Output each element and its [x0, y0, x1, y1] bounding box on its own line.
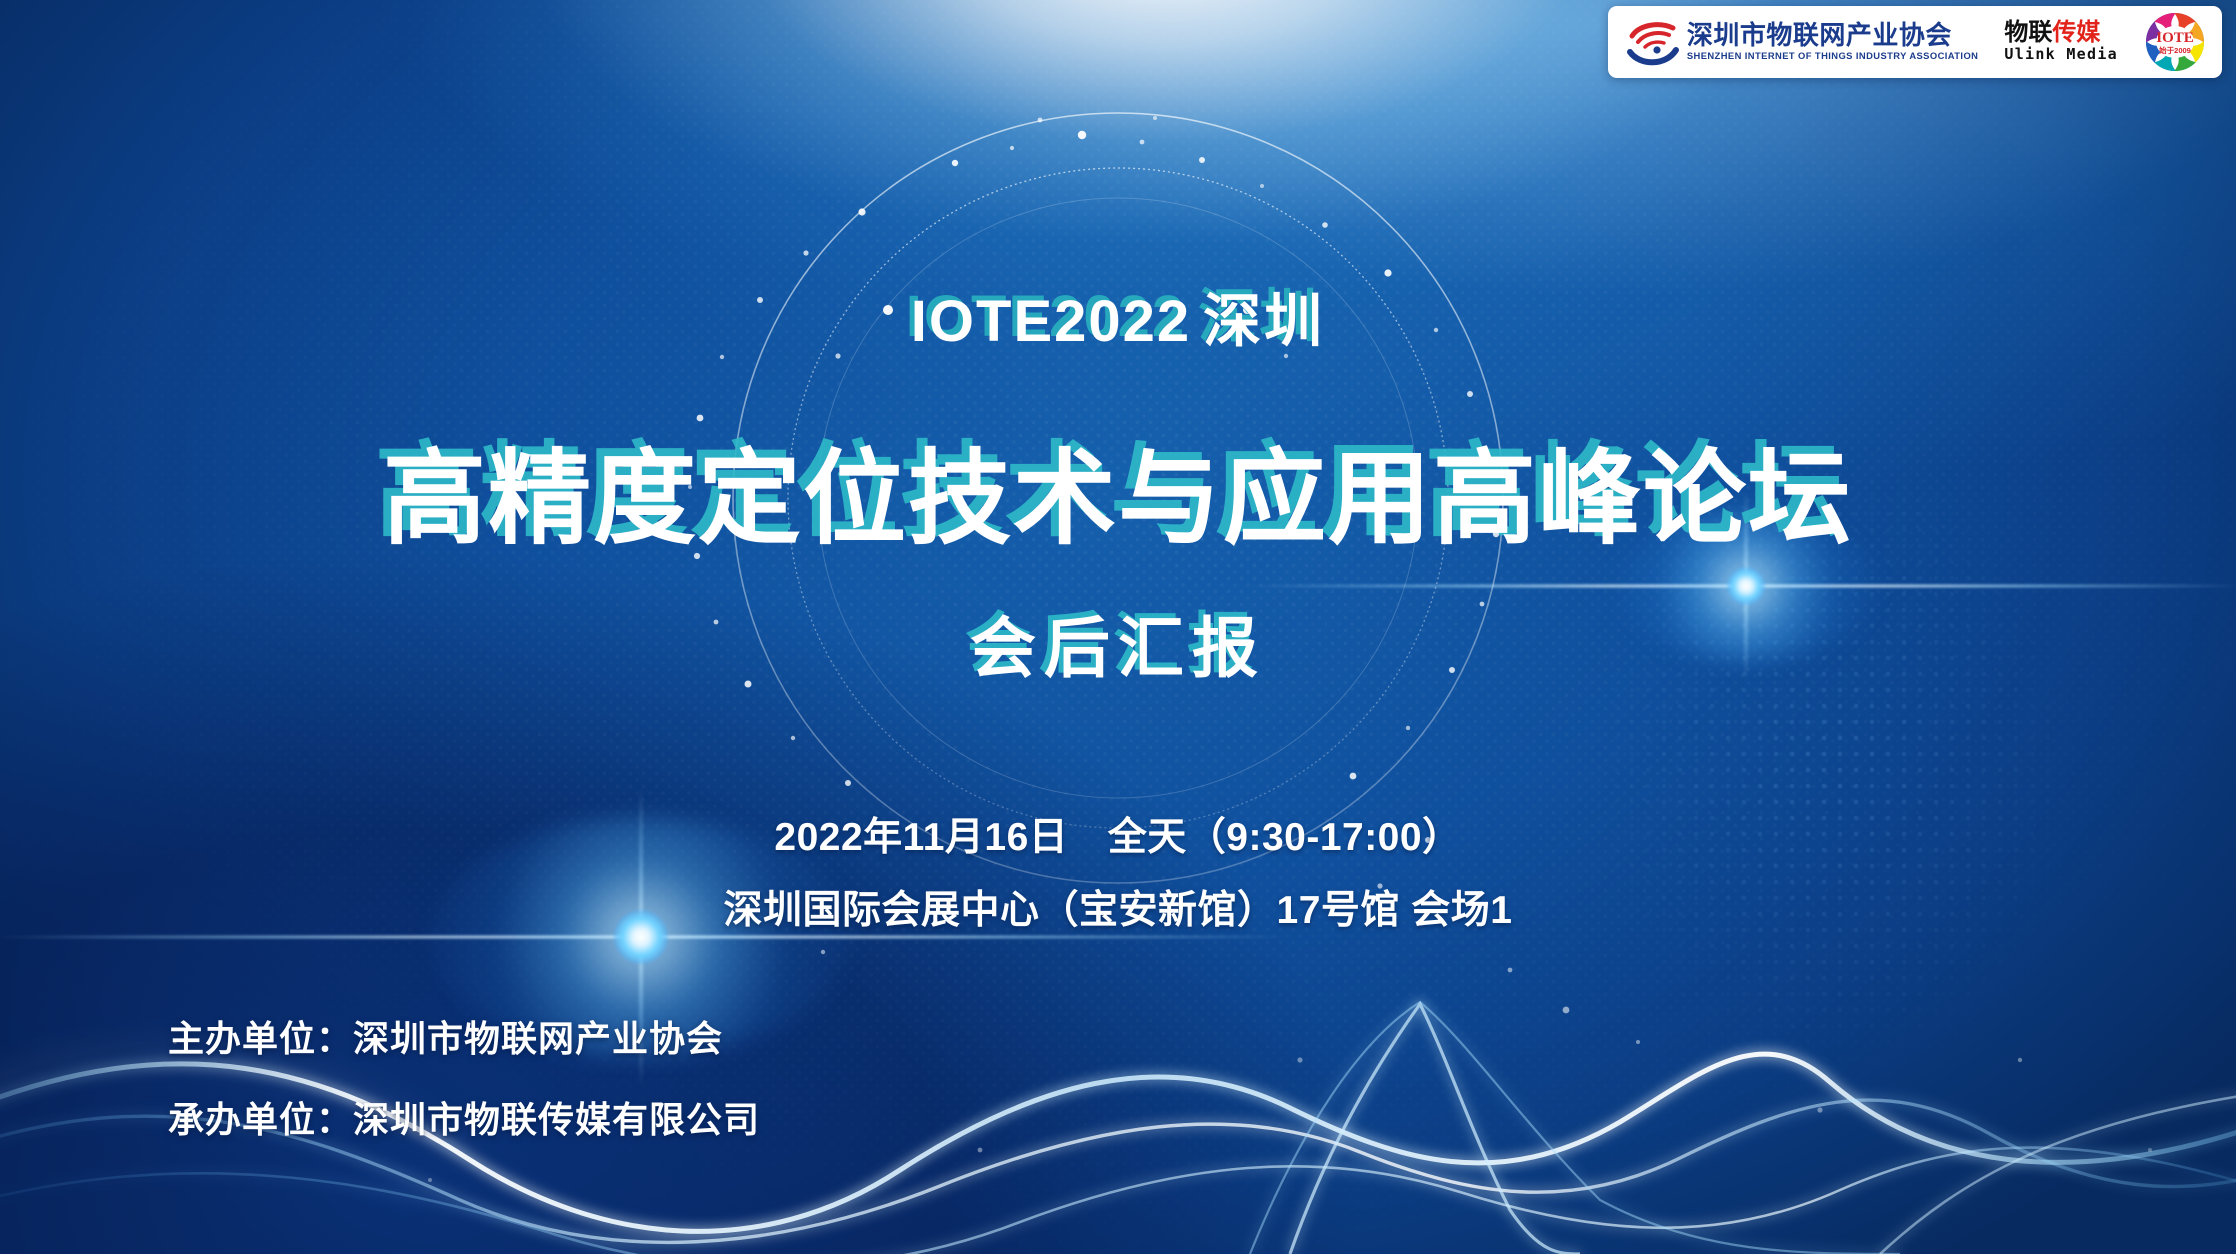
ulink-name-cn: 物联传媒 — [2004, 21, 2100, 45]
flare-core — [614, 910, 668, 964]
particle-dots — [173, 116, 2152, 1182]
lens-flare-left — [640, 936, 641, 937]
sziot-text-block: 深圳市物联网产业协会 SHENZHEN INTERNET OF THINGS I… — [1687, 22, 1979, 61]
report-label: 会后汇报 — [0, 612, 2236, 685]
iote-since-text: 始于2009 — [2159, 45, 2191, 55]
sziot-name-cn: 深圳市物联网产业协会 — [1687, 22, 1979, 49]
light-waves — [0, 1002, 2236, 1254]
flare-vertical-streak — [639, 787, 642, 1087]
flare-glow — [431, 817, 851, 1057]
iote-logo: IOTE 始于2009 — [2144, 11, 2206, 73]
ulink-media-logo: 物联传媒 Ulink Media — [2004, 21, 2118, 63]
event-datetime: 2022年11月16日 全天（9:30-17:00） — [0, 810, 2236, 867]
event-name-cn: 深圳 — [1203, 289, 1325, 354]
hexagon-dot-texture — [0, 0, 2236, 1254]
presentation-slide: 深圳市物联网产业协会 SHENZHEN INTERNET OF THINGS I… — [0, 0, 2236, 1254]
lens-flare-right — [1745, 585, 1746, 586]
ulink-name-cn-black: 物联 — [2004, 19, 2052, 46]
event-venue: 深圳国际会展中心（宝安新馆）17号馆 会场1 — [0, 883, 2236, 940]
concentric-rings — [733, 113, 1503, 883]
flare-core — [1727, 567, 1765, 605]
flare-horizontal-streak — [0, 935, 1291, 938]
sziot-logo: 深圳市物联网产业协会 SHENZHEN INTERNET OF THINGS I… — [1626, 16, 1979, 68]
organizer-organizer: 承办单位：深圳市物联传媒有限公司 — [168, 1100, 760, 1140]
flare-horizontal-streak — [1246, 584, 2236, 587]
iote-mark-text: IOTE — [2156, 30, 2194, 46]
event-name: IOTE2022深圳 — [0, 293, 2236, 351]
sponsor-logo-bar: 深圳市物联网产业协会 SHENZHEN INTERNET OF THINGS I… — [1608, 6, 2222, 78]
ulink-name-en: Ulink Media — [2004, 46, 2118, 63]
world-map-dot-texture — [1560, 330, 2200, 1110]
organizer-block: 主办单位：深圳市物联网产业协会 承办单位：深圳市物联传媒有限公司 — [168, 1019, 760, 1139]
organizer-host: 主办单位：深圳市物联网产业协会 — [168, 1019, 760, 1059]
flare-vertical-streak — [1744, 491, 1747, 681]
background-decoration — [0, 0, 2236, 1254]
flare-glow — [1616, 511, 1876, 661]
event-meta-block: 2022年11月16日 全天（9:30-17:00） 深圳国际会展中心（宝安新馆… — [0, 810, 2236, 939]
forum-title: 高精度定位技术与应用高峰论坛 — [0, 443, 2236, 554]
sziot-mark-icon — [1626, 16, 1680, 68]
event-name-en: IOTE2022 — [911, 289, 1191, 354]
ulink-name-cn-red: 传媒 — [2052, 19, 2100, 46]
sziot-name-en: SHENZHEN INTERNET OF THINGS INDUSTRY ASS… — [1687, 50, 1979, 62]
